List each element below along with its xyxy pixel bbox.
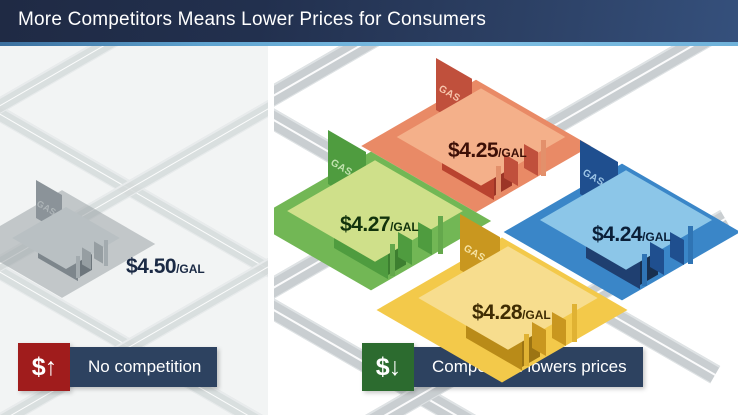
- price-amount: $4.50: [126, 255, 176, 278]
- canopy-column: [496, 166, 501, 196]
- price-amount: $4.27: [340, 213, 390, 236]
- canopy-column: [524, 334, 529, 366]
- canopy-column: [572, 304, 577, 342]
- header-bar: More Competitors Means Lower Prices for …: [0, 0, 738, 42]
- price-down-badge-icon: $↓: [362, 343, 414, 391]
- infographic-canvas: More Competitors Means Lower Prices for …: [0, 0, 738, 415]
- price-unit: /GAL: [522, 308, 551, 322]
- gas-station-gray[interactable]: GAS: [24, 174, 134, 274]
- canopy-column: [104, 240, 108, 266]
- road-segment: [274, 396, 720, 415]
- price-unit: /GAL: [498, 146, 527, 160]
- price-amount: $4.28: [472, 301, 522, 324]
- gas-station-yellow[interactable]: GAS $4.28/GAL: [440, 208, 620, 358]
- price-label-gray: $4.50/GAL: [126, 256, 205, 277]
- price-up-badge-icon: $↑: [18, 343, 70, 391]
- legend-label: No competition: [70, 347, 217, 387]
- price-label-yellow: $4.28/GAL: [472, 302, 551, 323]
- canopy-column: [390, 244, 395, 276]
- price-label-green: $4.27/GAL: [340, 214, 419, 235]
- road-segment: [0, 46, 268, 179]
- price-unit: /GAL: [642, 230, 671, 244]
- page-title: More Competitors Means Lower Prices for …: [18, 9, 486, 31]
- canopy-column: [76, 256, 80, 278]
- price-unit: /GAL: [176, 262, 205, 276]
- canopy-column: [688, 226, 693, 264]
- canopy-column: [642, 254, 647, 286]
- canopy-column: [541, 140, 546, 176]
- legend-no-competition[interactable]: $↑ No competition: [18, 343, 217, 391]
- price-unit: /GAL: [390, 220, 419, 234]
- right-panel-competition: GAS $4.25/GAL GAS: [274, 46, 738, 415]
